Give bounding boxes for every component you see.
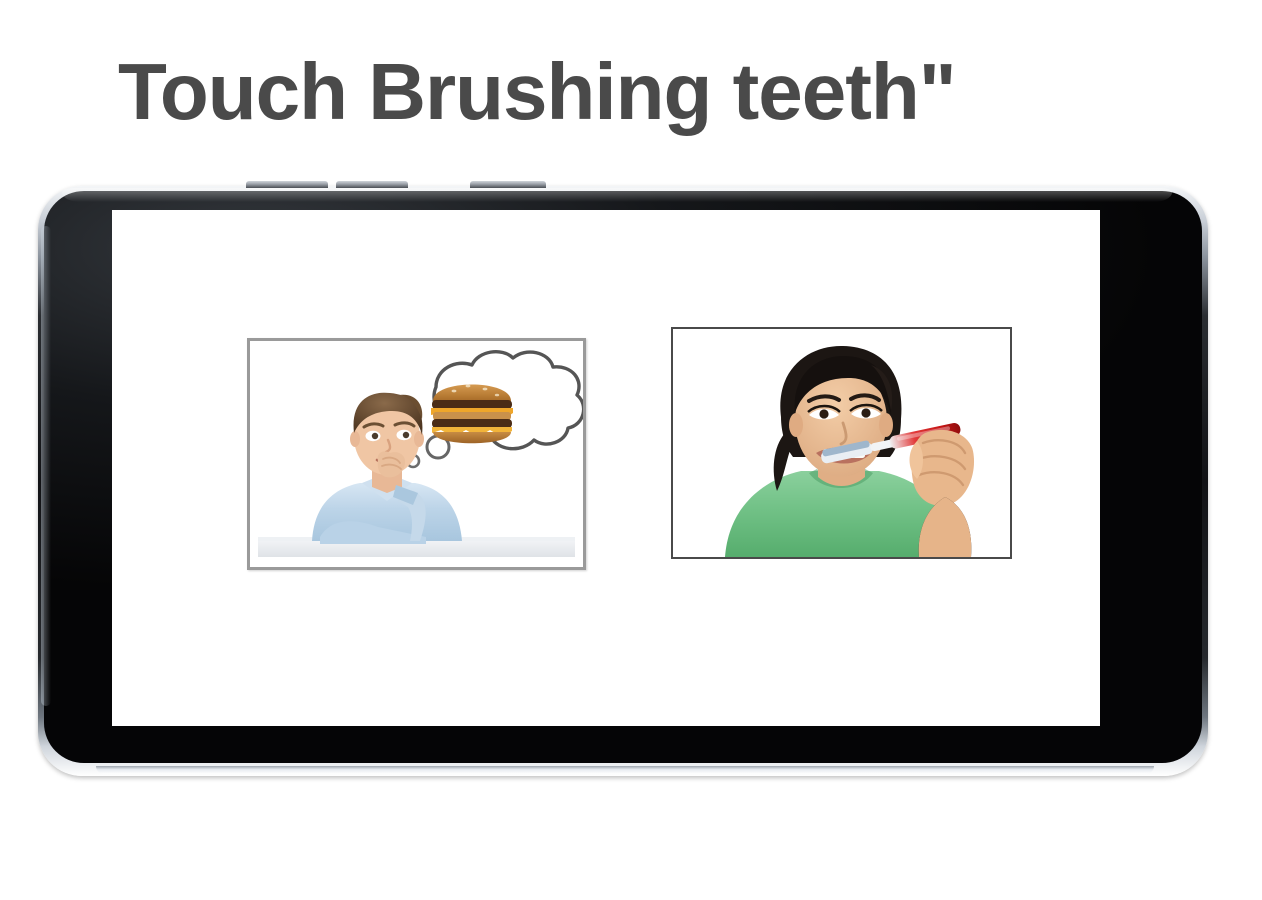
thinking-about-hamburger-image [250, 341, 583, 567]
page-title: Touch Brushing teeth" [118, 50, 1178, 134]
device-bottom-lip [96, 766, 1154, 774]
volume-down-button[interactable]: Volume Down [336, 181, 408, 188]
volume-up-button[interactable]: Volume Up [246, 181, 328, 188]
device-top-highlight [62, 188, 1172, 202]
brushing-teeth-image [673, 329, 1010, 557]
choice-card-thinking-about-hamburger[interactable]: Thinking about a hamburger [247, 338, 586, 570]
choice-card-brushing-teeth[interactable]: Brushing teeth [671, 327, 1012, 559]
tablet-device: Volume Up Volume Down Power Thinking abo… [38, 186, 1208, 776]
device-left-highlight [41, 226, 51, 706]
tablet-screen[interactable]: Thinking about a hamburger [112, 210, 1100, 726]
power-button[interactable]: Power [470, 181, 546, 188]
